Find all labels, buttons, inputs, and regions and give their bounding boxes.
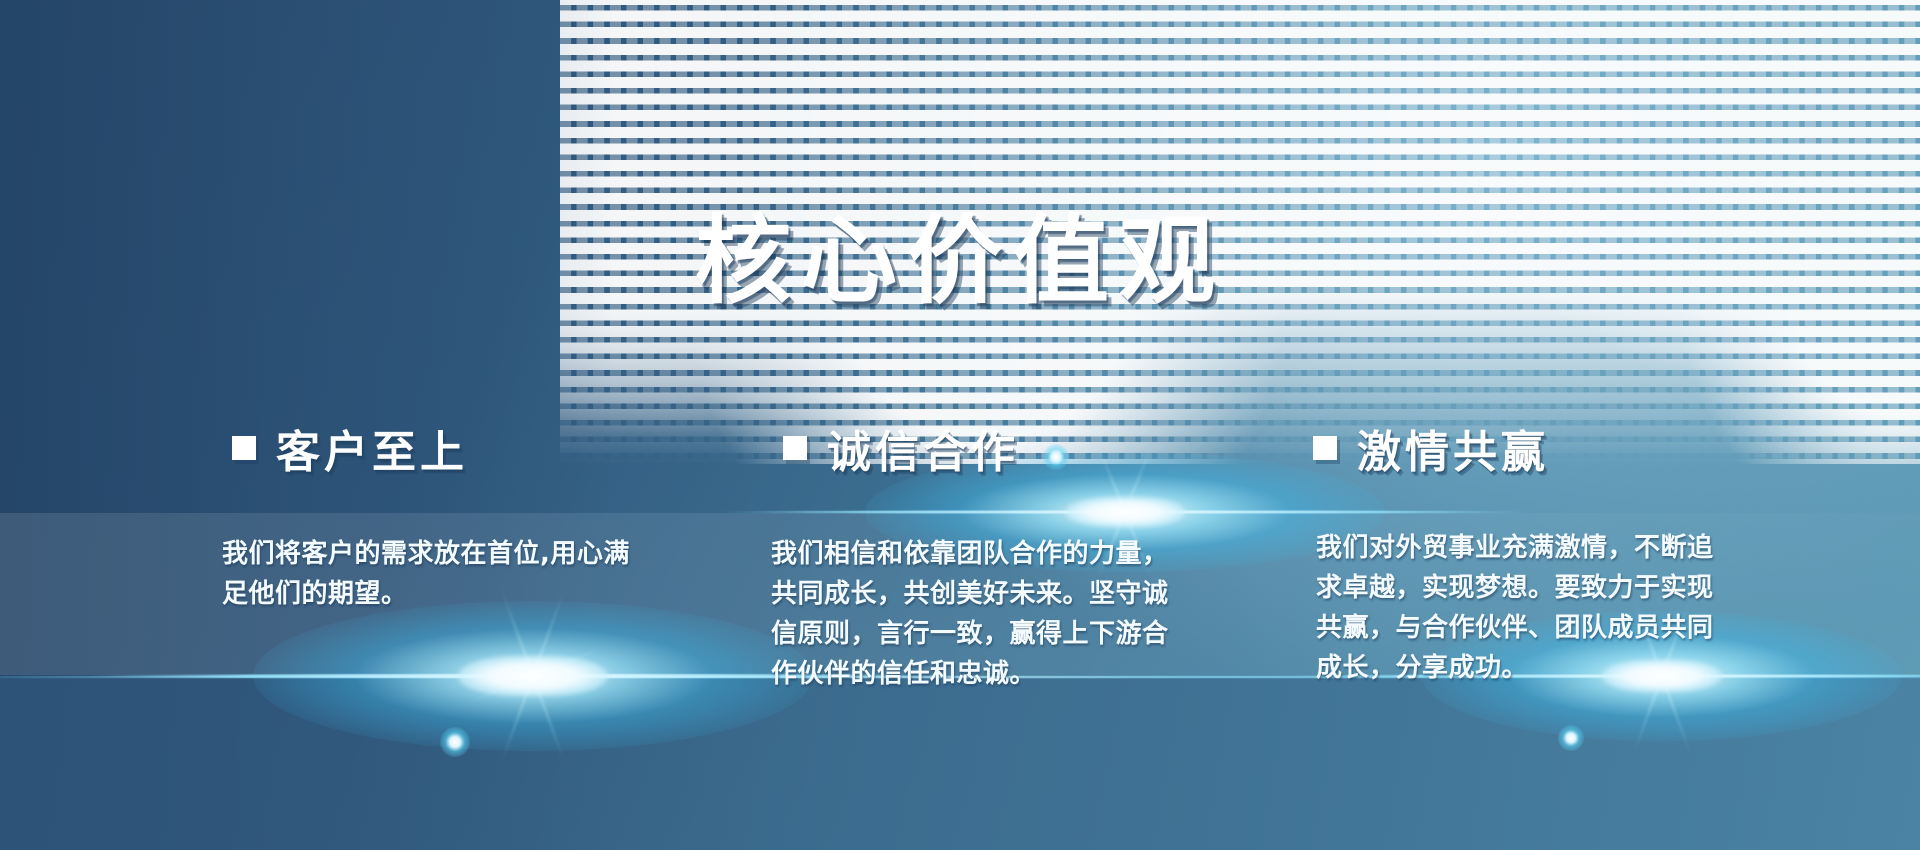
value-heading-1: 客户至上 [232, 416, 468, 480]
value-column-1: 客户至上 我们将客户的需求放在首位,用心满足他们的期望。 [232, 416, 468, 480]
value-heading-3: 激情共赢 [1313, 416, 1549, 480]
value-body-2: 我们相信和依靠团队合作的力量，共同成长，共创美好未来。坚守诚信原则，言行一致，赢… [771, 534, 1191, 694]
value-body-1: 我们将客户的需求放在首位,用心满足他们的期望。 [222, 534, 652, 614]
value-heading-text-1: 客户至上 [276, 416, 468, 480]
value-body-3: 我们对外贸事业充满激情，不断追求卓越，实现梦想。要致力于实现共赢，与合作伙伴、团… [1316, 528, 1736, 688]
value-column-2: 诚信合作 我们相信和依靠团队合作的力量，共同成长，共创美好未来。坚守诚信原则，言… [783, 416, 1019, 480]
value-column-3: 激情共赢 我们对外贸事业充满激情，不断追求卓越，实现梦想。要致力于实现共赢，与合… [1313, 416, 1549, 480]
page-title: 核心价值观 [0, 183, 1920, 322]
banner-canvas: 核心价值观 客户至上 我们将客户的需求放在首位,用心满足他们的期望。 诚信合作 … [0, 0, 1920, 850]
square-bullet-icon [1313, 436, 1337, 460]
square-bullet-icon [783, 436, 807, 460]
value-heading-2: 诚信合作 [783, 416, 1019, 480]
square-bullet-icon [232, 436, 256, 460]
value-heading-text-2: 诚信合作 [827, 416, 1019, 480]
value-heading-text-3: 激情共赢 [1357, 416, 1549, 480]
